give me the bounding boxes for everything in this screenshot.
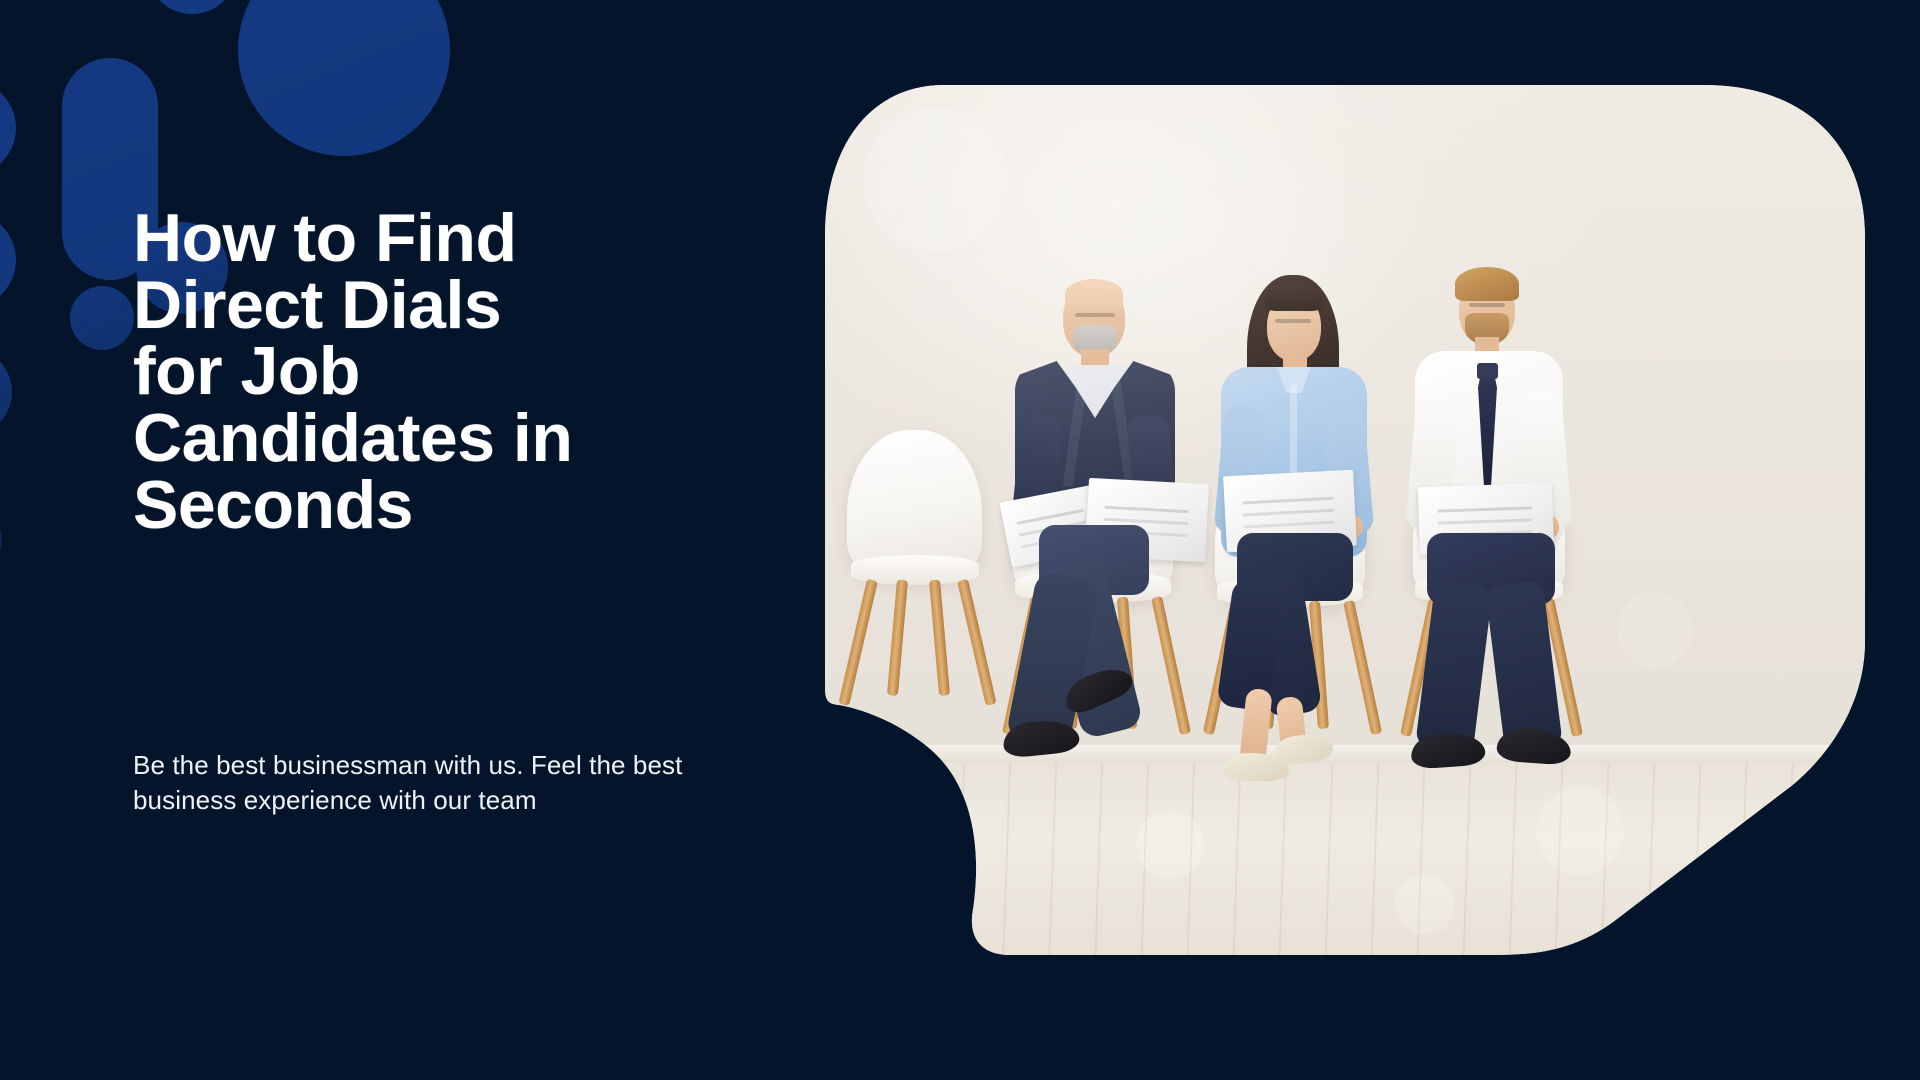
bokeh-circle xyxy=(1536,786,1624,874)
hero-banner: How to Find Direct Dials for Job Candida… xyxy=(0,0,1920,1080)
bokeh-circle xyxy=(863,108,1007,252)
page-title: How to Find Direct Dials for Job Candida… xyxy=(133,205,733,538)
wall-baseboard xyxy=(825,745,1865,765)
bokeh-circle xyxy=(1395,875,1455,935)
candidate-3-hair xyxy=(1455,267,1519,301)
speech-bubble-photo-panel xyxy=(825,85,1865,955)
hero-subcopy: Be the best businessman with us. Feel th… xyxy=(133,748,773,819)
bokeh-circle xyxy=(1136,811,1204,879)
studio-floor xyxy=(825,763,1865,955)
photo-content xyxy=(825,85,1865,955)
hero-text-column: How to Find Direct Dials for Job Candida… xyxy=(133,205,733,538)
bokeh-circle xyxy=(1617,592,1693,668)
